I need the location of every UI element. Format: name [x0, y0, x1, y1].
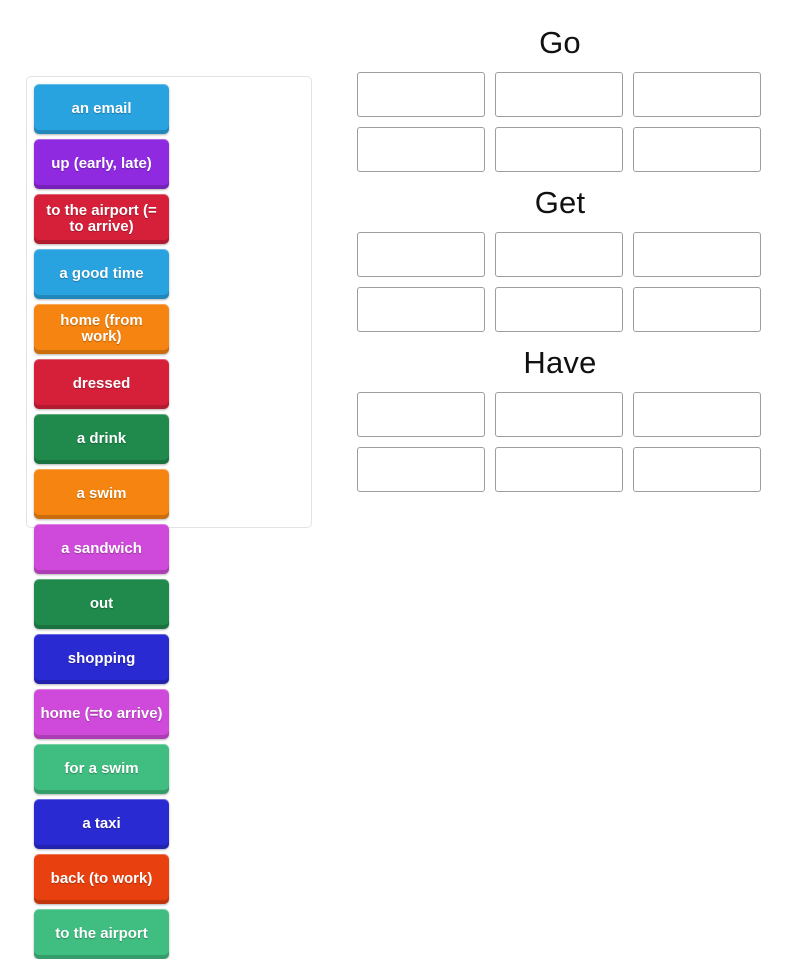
word-tile[interactable]: a good time	[34, 249, 169, 299]
dropzone[interactable]	[495, 392, 623, 437]
word-tile[interactable]: for a swim	[34, 744, 169, 794]
word-tile[interactable]: dressed	[34, 359, 169, 409]
dropzone[interactable]	[633, 232, 761, 277]
dropzone[interactable]	[495, 127, 623, 172]
word-tile[interactable]: shopping	[34, 634, 169, 684]
dropzone[interactable]	[633, 72, 761, 117]
category-title: Have	[340, 346, 780, 380]
word-tile-pool[interactable]: an emailup (early, late)to the airport (…	[26, 76, 312, 528]
dropzone[interactable]	[495, 287, 623, 332]
dropzone[interactable]	[633, 287, 761, 332]
category-have: Have	[340, 346, 780, 492]
dropzone[interactable]	[633, 447, 761, 492]
activity-stage: an emailup (early, late)to the airport (…	[0, 0, 800, 600]
word-tile[interactable]: a swim	[34, 469, 169, 519]
word-tile[interactable]: out	[34, 579, 169, 629]
dropzone[interactable]	[495, 232, 623, 277]
dropzone[interactable]	[495, 447, 623, 492]
word-tile[interactable]: home (=to arrive)	[34, 689, 169, 739]
dropzone[interactable]	[357, 127, 485, 172]
category-get: Get	[340, 186, 780, 332]
word-tile[interactable]: a taxi	[34, 799, 169, 849]
dropzone[interactable]	[495, 72, 623, 117]
category-go: Go	[340, 26, 780, 172]
word-tile[interactable]: an email	[34, 84, 169, 134]
dropzone[interactable]	[357, 392, 485, 437]
dropzone[interactable]	[633, 127, 761, 172]
word-tile[interactable]: to the airport	[34, 909, 169, 959]
dropzone-grid	[340, 232, 780, 332]
word-tile[interactable]: a sandwich	[34, 524, 169, 574]
dropzone[interactable]	[633, 392, 761, 437]
category-title: Get	[340, 186, 780, 220]
dropzone-grid	[340, 392, 780, 492]
dropzone[interactable]	[357, 287, 485, 332]
category-title: Go	[340, 26, 780, 60]
word-tile[interactable]: to the airport (= to arrive)	[34, 194, 169, 244]
word-tile[interactable]: back (to work)	[34, 854, 169, 904]
category-columns: GoGetHave	[340, 26, 780, 502]
word-tile[interactable]: a drink	[34, 414, 169, 464]
dropzone[interactable]	[357, 232, 485, 277]
dropzone-grid	[340, 72, 780, 172]
word-tile[interactable]: home (from work)	[34, 304, 169, 354]
word-tile[interactable]: up (early, late)	[34, 139, 169, 189]
dropzone[interactable]	[357, 447, 485, 492]
dropzone[interactable]	[357, 72, 485, 117]
